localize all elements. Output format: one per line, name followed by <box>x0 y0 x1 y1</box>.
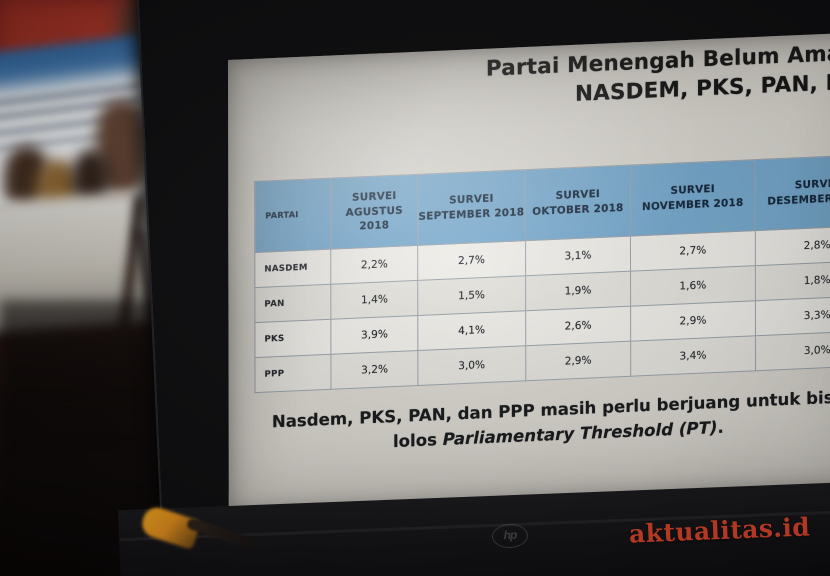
row-label-nasdem: NASDEM <box>255 249 331 287</box>
cell-pks-november: 2,9% <box>631 301 755 341</box>
cell-pan-oktober: 1,9% <box>525 271 631 311</box>
column-header-line-2: NOVEMBER 2018 <box>642 197 743 213</box>
column-header-line-2: AGUSTUS 2018 <box>346 204 403 233</box>
column-header-survei-november: SURVEI NOVEMBER 2018 <box>631 160 755 236</box>
survey-results-table: PARTAI SURVEI AGUSTUS 2018 SURVEI SEPTEM… <box>254 154 830 393</box>
slide-caption-line-2-prefix: lolos <box>393 430 443 451</box>
column-header-line-2: DESEMBER 2018 <box>767 191 830 207</box>
cell-nasdem-oktober: 3,1% <box>525 236 631 276</box>
cell-pks-oktober: 2,6% <box>525 306 631 346</box>
column-header-partai-label: PARTAI <box>265 209 298 220</box>
cell-pan-agustus: 1,4% <box>331 280 418 319</box>
cell-ppp-september: 3,0% <box>418 346 526 386</box>
row-label-pks: PKS <box>255 319 331 357</box>
cell-nasdem-november: 2,7% <box>631 231 755 271</box>
cell-pks-september: 4,1% <box>418 311 526 351</box>
cell-ppp-agustus: 3,2% <box>331 350 418 389</box>
cell-ppp-desember: 3,0% <box>755 330 830 370</box>
column-header-survei-desember: SURVEI DESEMBER 2018 <box>755 154 830 230</box>
column-header-partai: PARTAI <box>255 178 331 252</box>
slide-caption-line-2-suffix: . <box>717 417 723 436</box>
table-body: NASDEM 2,2% 2,7% 3,1% 2,7% 2,8% PAN 1,4%… <box>255 225 830 392</box>
column-header-line-2: OKTOBER 2018 <box>532 202 623 218</box>
column-header-line-1: SURVEI <box>352 190 396 204</box>
row-label-pan: PAN <box>255 284 331 322</box>
cell-pan-desember: 1,8% <box>755 260 830 300</box>
slide-title: Partai Menengah Belum Aman : NASDEM, PKS… <box>274 38 830 151</box>
cell-pks-desember: 3,3% <box>755 295 830 335</box>
column-header-survei-agustus: SURVEI AGUSTUS 2018 <box>331 174 418 249</box>
slide-caption: Nasdem, PKS, PAN, dan PPP masih perlu be… <box>259 385 830 460</box>
column-header-line-1: SURVEI <box>795 178 830 192</box>
row-label-ppp: PPP <box>255 354 331 392</box>
cell-pan-september: 1,5% <box>418 276 526 316</box>
cell-pan-november: 1,6% <box>631 266 755 306</box>
column-header-line-1: SURVEI <box>556 188 600 202</box>
cell-nasdem-september: 2,7% <box>418 241 526 281</box>
column-header-survei-oktober: SURVEI OKTOBER 2018 <box>525 165 631 241</box>
photo-canvas: Partai Menengah Belum Aman : NASDEM, PKS… <box>0 0 830 576</box>
column-header-line-2: SEPTEMBER 2018 <box>419 206 525 223</box>
cell-nasdem-desember: 2,8% <box>755 225 830 265</box>
presentation-slide: Partai Menengah Belum Aman : NASDEM, PKS… <box>228 32 830 512</box>
column-header-line-1: SURVEI <box>449 193 493 207</box>
cell-pks-agustus: 3,9% <box>331 315 418 354</box>
cell-ppp-oktober: 2,9% <box>525 341 631 381</box>
cell-nasdem-agustus: 2,2% <box>331 245 418 284</box>
column-header-line-1: SURVEI <box>670 183 714 197</box>
column-header-survei-september: SURVEI SEPTEMBER 2018 <box>418 170 526 246</box>
cell-ppp-november: 3,4% <box>631 336 755 376</box>
